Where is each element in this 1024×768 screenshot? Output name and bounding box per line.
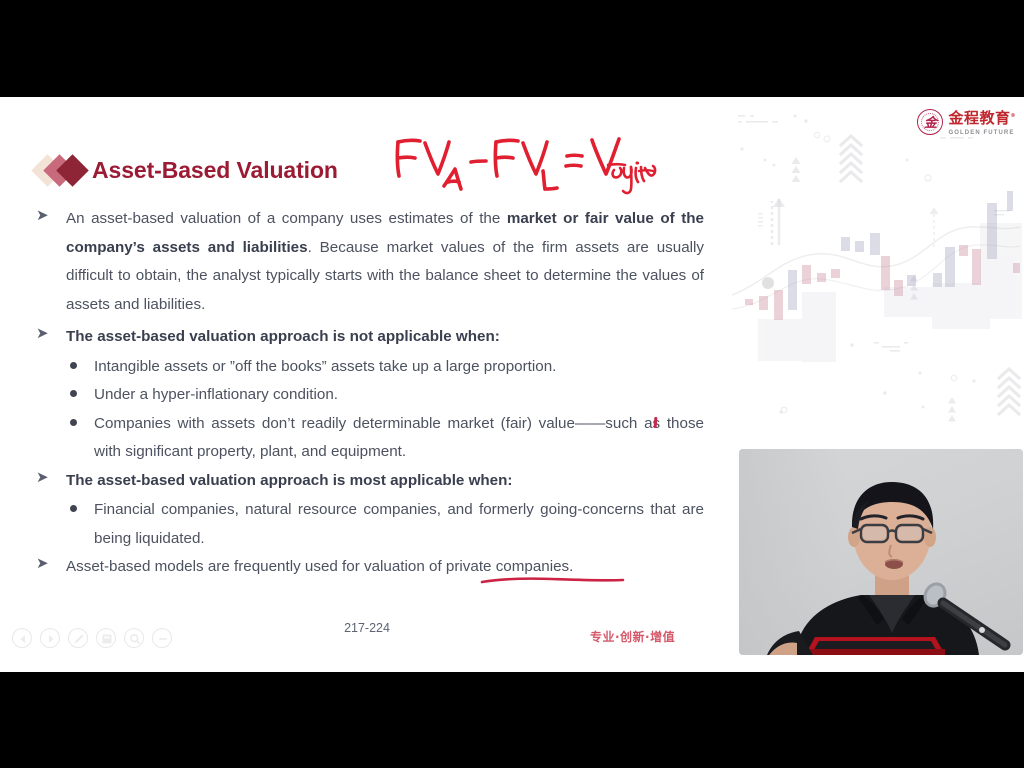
- presenter-toolbar[interactable]: [12, 628, 172, 648]
- bullet-text-6: Financial companies, natural resource co…: [94, 496, 704, 553]
- arrow-bullet-icon: ➤: [36, 323, 66, 352]
- bullet-level2: Companies with assets don’t readily dete…: [70, 410, 704, 467]
- arrow-bullet-icon: ➤: [36, 467, 66, 496]
- bullet-level2: Intangible assets or ”off the books” ass…: [70, 353, 704, 382]
- pen-icon[interactable]: [68, 628, 88, 648]
- bullet-level1: ➤ The asset-based valuation approach is …: [36, 323, 704, 352]
- red-underline-annotation: [480, 575, 625, 587]
- dot-bullet-icon: [70, 353, 94, 382]
- video-player[interactable]: 金 金程教育® GOLDEN FUTURE Asset-Based Valuat…: [0, 0, 1024, 768]
- bullet-level2: Under a hyper-inflationary condition.: [70, 381, 704, 410]
- arrow-bullet-icon: ➤: [36, 205, 66, 319]
- logo-chinese-name: 金程教育: [948, 109, 1010, 127]
- dot-bullet-icon: [70, 496, 94, 553]
- logo-english-name: GOLDEN FUTURE: [948, 130, 1016, 136]
- more-options-icon[interactable]: [152, 628, 172, 648]
- bullet-text-4: Companies with assets don’t readily dete…: [94, 410, 704, 467]
- page-title: Asset-Based Valuation: [92, 157, 338, 184]
- bullet-level1: ➤ An asset-based valuation of a company …: [36, 205, 704, 319]
- logo-seal-glyph: 金: [918, 110, 942, 134]
- arrow-bullet-icon: ➤: [36, 553, 66, 582]
- diamond-decoration-icon: [36, 153, 92, 187]
- bullet-text-2: Intangible assets or ”off the books” ass…: [94, 353, 704, 382]
- bullet-level2: Financial companies, natural resource co…: [70, 496, 704, 553]
- slide-thumbnails-icon[interactable]: [96, 628, 116, 648]
- brand-logo: 金 金程教育® GOLDEN FUTURE: [917, 107, 1016, 136]
- bullet-text-3: Under a hyper-inflationary condition.: [94, 381, 704, 410]
- bullet-text-5: The asset-based valuation approach is mo…: [66, 467, 704, 496]
- slide-canvas: 金 金程教育® GOLDEN FUTURE Asset-Based Valuat…: [0, 97, 1024, 672]
- slide-title-row: Asset-Based Valuation: [36, 153, 338, 187]
- logo-trademark: ®: [1011, 113, 1017, 119]
- slide-body: ➤ An asset-based valuation of a company …: [36, 205, 704, 583]
- dot-bullet-icon: [70, 410, 94, 467]
- brand-slogan: 专业·创新·增值: [590, 628, 675, 645]
- decorative-candlestick-graphic: [724, 97, 1024, 457]
- next-slide-icon[interactable]: [40, 628, 60, 648]
- instructor-video-feed[interactable]: [739, 449, 1023, 655]
- previous-slide-icon[interactable]: [12, 628, 32, 648]
- zoom-icon[interactable]: [124, 628, 144, 648]
- logo-seal-icon: 金: [917, 109, 943, 135]
- dot-bullet-icon: [70, 381, 94, 410]
- bullet-text-0: An asset-based valuation of a company us…: [66, 205, 704, 319]
- video-subject: [739, 449, 1023, 655]
- bullet-text-1: The asset-based valuation approach is no…: [66, 323, 704, 352]
- bullet-level1: ➤ The asset-based valuation approach is …: [36, 467, 704, 496]
- handwritten-formula-annotation: [392, 134, 657, 196]
